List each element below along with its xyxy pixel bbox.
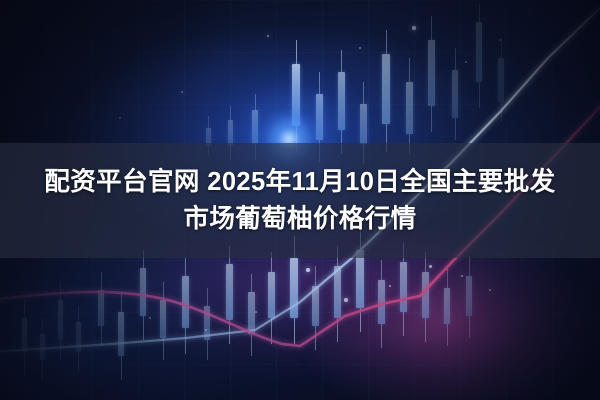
page-title: 配资平台官网 2025年11月10日全国主要批发 市场葡萄柚价格行情 bbox=[0, 143, 600, 258]
headline-line-1: 配资平台官网 2025年11月10日全国主要批发 bbox=[44, 167, 555, 197]
banner-image: 配资平台官网 2025年11月10日全国主要批发 市场葡萄柚价格行情 bbox=[0, 0, 600, 400]
headline-line-2: 市场葡萄柚价格行情 bbox=[183, 204, 416, 234]
